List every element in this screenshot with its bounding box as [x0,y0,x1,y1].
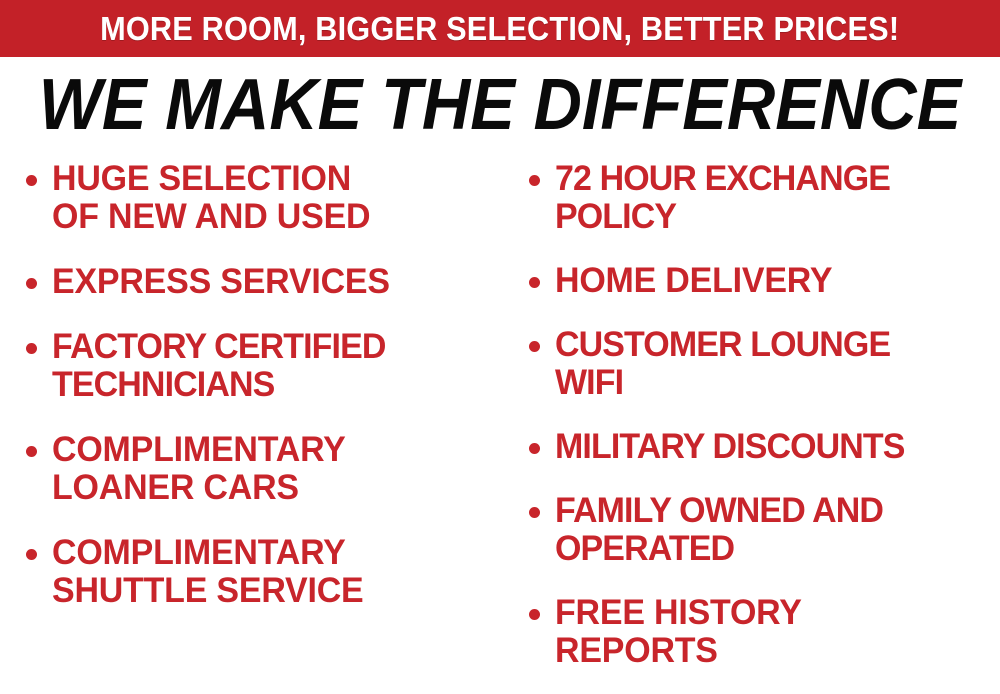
list-item: FACTORY CERTIFIED TECHNICIANS [24,328,500,404]
bullet-dot-icon [529,277,540,288]
list-item: EXPRESS SERVICES [24,263,500,301]
bullet-dot-icon [529,341,540,352]
bullet-dot-icon [26,278,37,289]
benefits-column-left: HUGE SELECTION OF NEW AND USED EXPRESS S… [0,160,500,694]
list-item-label: COMPLIMENTARY LOANER CARS [52,431,487,507]
bullet-dot-icon [26,343,37,354]
list-item-label: HOME DELIVERY [555,262,987,300]
headline-container: WE MAKE THE DIFFERENCE [0,62,1000,148]
list-item-label: FAMILY OWNED AND OPERATED [555,492,987,568]
list-item: CUSTOMER LOUNGE WIFI [527,326,1000,402]
page-title: WE MAKE THE DIFFERENCE [39,69,962,141]
list-item-label: HUGE SELECTION OF NEW AND USED [52,160,487,236]
bullet-dot-icon [26,549,37,560]
top-banner-text: MORE ROOM, BIGGER SELECTION, BETTER PRIC… [100,12,899,45]
list-item: 72 HOUR EXCHANGE POLICY [527,160,1000,236]
list-item-label: CUSTOMER LOUNGE WIFI [555,326,987,402]
top-banner: MORE ROOM, BIGGER SELECTION, BETTER PRIC… [0,0,1000,57]
list-item-label: COMPLIMENTARY SHUTTLE SERVICE [52,534,487,610]
list-item-label: 72 HOUR EXCHANGE POLICY [555,160,987,236]
list-item-label: FACTORY CERTIFIED TECHNICIANS [52,328,487,404]
benefits-columns: HUGE SELECTION OF NEW AND USED EXPRESS S… [0,160,1000,694]
list-item-label: EXPRESS SERVICES [52,263,487,301]
list-item-label: FREE HISTORY REPORTS [555,594,987,670]
list-item-label: MILITARY DISCOUNTS [555,428,987,466]
bullet-dot-icon [26,446,37,457]
bullet-dot-icon [529,507,540,518]
promo-poster: MORE ROOM, BIGGER SELECTION, BETTER PRIC… [0,0,1000,694]
list-item: COMPLIMENTARY SHUTTLE SERVICE [24,534,500,610]
list-item: HOME DELIVERY [527,262,1000,300]
list-item: MILITARY DISCOUNTS [527,428,1000,466]
list-item: COMPLIMENTARY LOANER CARS [24,431,500,507]
list-item: HUGE SELECTION OF NEW AND USED [24,160,500,236]
list-item: FREE HISTORY REPORTS [527,594,1000,670]
bullet-dot-icon [529,175,540,186]
bullet-dot-icon [26,175,37,186]
benefits-column-right: 72 HOUR EXCHANGE POLICY HOME DELIVERY CU… [500,160,1000,694]
list-item: FAMILY OWNED AND OPERATED [527,492,1000,568]
bullet-dot-icon [529,609,540,620]
bullet-dot-icon [529,443,540,454]
